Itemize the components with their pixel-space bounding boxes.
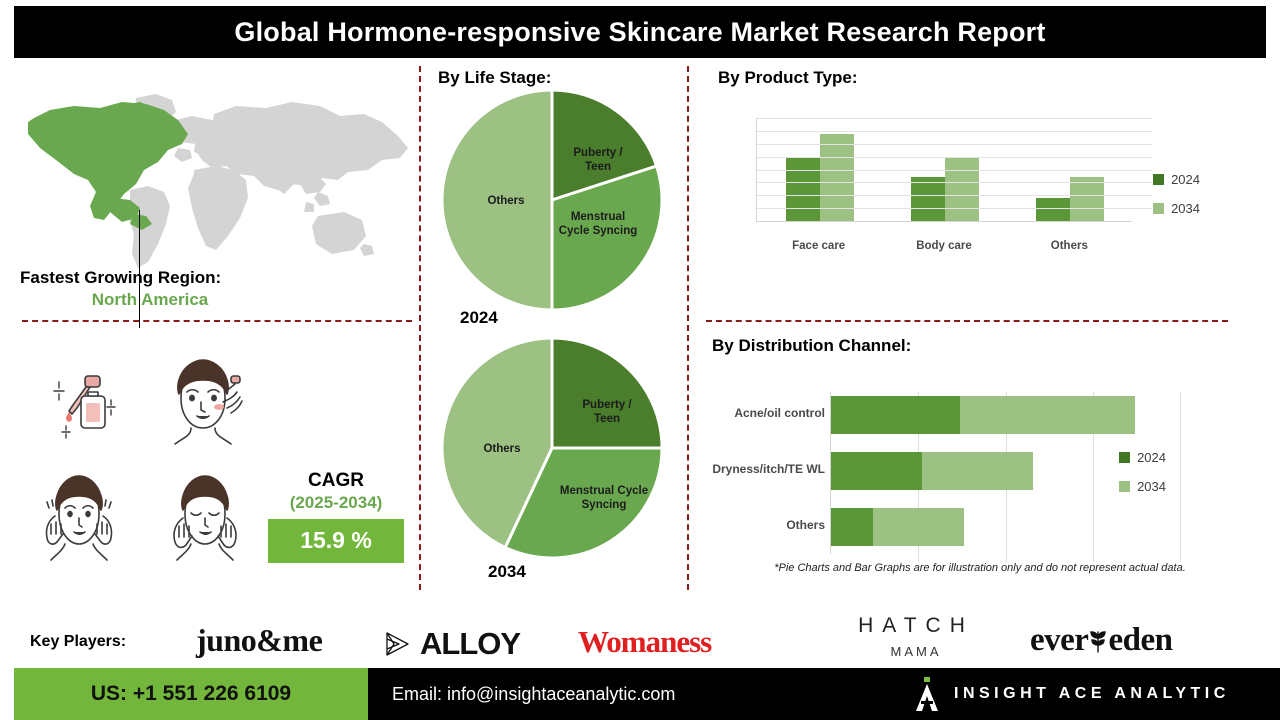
vertical-divider-right [687, 66, 689, 590]
life-stage-panel: By Life Stage: Puberty / Teen Menstrual … [422, 62, 684, 597]
mama-logo-text: MAMA [836, 644, 996, 659]
category-label: Dryness/itch/TE WL [701, 462, 825, 478]
pie-chart-2034: Puberty / Teen Menstrual Cycle Syncing O… [440, 336, 664, 565]
alloy-logo: ALLOY [382, 626, 520, 662]
product-type-legend: 2024 2034 [1153, 172, 1200, 216]
chart-disclaimer: *Pie Charts and Bar Graphs are for illus… [720, 562, 1240, 574]
bar-segment-2034 [873, 508, 964, 546]
legend-item-2034: 2034 [1153, 201, 1200, 216]
product-type-bar-chart: Face careBody careOthers 2024 2034 [748, 110, 1208, 260]
evereden-logo-text-left: ever [1030, 622, 1088, 659]
leaf-icon [1088, 626, 1108, 656]
face-applying-serum-icon [142, 344, 268, 460]
gridline [757, 208, 1152, 209]
legend-label-2024: 2024 [1171, 172, 1200, 187]
legend-label-2024: 2024 [1137, 450, 1166, 465]
bar-2034 [945, 157, 979, 221]
bar-2024 [1036, 198, 1070, 221]
juno-and-me-logo: juno&me [196, 622, 322, 659]
stacked-bar-row [831, 396, 1180, 434]
evereden-logo: ever eden [1030, 622, 1172, 659]
gridline [757, 118, 1152, 119]
fastest-growing-region-label: Fastest Growing Region: [20, 268, 280, 288]
bar-segment-2024 [831, 452, 922, 490]
pie-2024-year: 2024 [460, 308, 498, 328]
face-cleansing-icon [142, 460, 268, 576]
legend-label-2034: 2034 [1171, 201, 1200, 216]
gridline [757, 182, 1152, 183]
skincare-icons-grid [16, 344, 268, 576]
cagr-value: 15.9 % [268, 519, 404, 563]
product-type-plot-area [756, 118, 1132, 222]
vertical-divider-left [419, 66, 421, 590]
category-label: Others [701, 518, 825, 534]
serum-dropper-bottle-icon [16, 344, 142, 460]
legend-swatch-2024 [1119, 452, 1130, 463]
category-label: Body care [881, 240, 1006, 252]
category-label: Face care [756, 240, 881, 252]
key-players-label: Key Players: [30, 633, 126, 651]
right-panel: By Product Type: Face careBody careOther… [690, 62, 1280, 597]
left-panel: Fastest Growing Region: North America [0, 62, 418, 597]
insight-ace-analytic-brand: INSIGHT ACE ANALYTIC [914, 677, 1230, 711]
bar-2024 [786, 157, 820, 221]
distribution-legend: 2024 2034 [1119, 450, 1166, 494]
footer-phone-bar: US: +1 551 226 6109 [14, 668, 368, 720]
pie-chart-2024: Puberty / Teen Menstrual Cycle Syncing O… [440, 88, 664, 317]
page-title: Global Hormone-responsive Skincare Marke… [234, 17, 1045, 48]
cagr-block: CAGR (2025-2034) 15.9 % [268, 470, 404, 563]
header-bar: Global Hormone-responsive Skincare Marke… [14, 6, 1266, 58]
hatch-mama-logo: HATCH MAMA [836, 614, 996, 659]
bar-segment-2034 [922, 452, 1034, 490]
alloy-mark-icon [382, 629, 412, 659]
hatch-logo-text: HATCH [836, 614, 996, 638]
face-massage-icon [16, 460, 142, 576]
distribution-bar-chart: Acne/oil controlDryness/itch/TE WLOthers… [700, 382, 1180, 572]
insight-ace-logo-icon [914, 677, 940, 711]
gridline [757, 131, 1152, 132]
legend-item-2024: 2024 [1119, 450, 1166, 465]
gridline [757, 157, 1152, 158]
legend-swatch-2034 [1153, 203, 1164, 214]
category-label: Acne/oil control [701, 406, 825, 422]
bar-segment-2024 [831, 396, 960, 434]
pie-slice [552, 338, 662, 448]
legend-swatch-2034 [1119, 481, 1130, 492]
footer-email: Email: info@insightaceanalytic.com [392, 684, 675, 705]
stacked-bar-row [831, 508, 1180, 546]
cagr-title: CAGR [268, 470, 404, 492]
footer-contact-bar: Email: info@insightaceanalytic.com INSIG… [368, 668, 1280, 720]
category-label: Others [1007, 240, 1132, 252]
evereden-logo-text-right: eden [1108, 622, 1172, 659]
legend-item-2024: 2024 [1153, 172, 1200, 187]
bar-segment-2034 [960, 396, 1135, 434]
product-type-title: By Product Type: [718, 68, 857, 88]
gridline [757, 170, 1152, 171]
gridline [757, 195, 1152, 196]
cagr-period: (2025-2034) [268, 493, 404, 513]
pie-2034-year: 2034 [488, 562, 526, 582]
bar-segment-2024 [831, 508, 873, 546]
life-stage-title: By Life Stage: [438, 68, 551, 88]
gridline [1180, 392, 1181, 562]
gridline [757, 144, 1152, 145]
key-players-strip: Key Players: juno&me ALLOY Womaness HATC… [0, 600, 1280, 668]
brand-name: INSIGHT ACE ANALYTIC [954, 685, 1230, 703]
fastest-growing-region-value: North America [20, 290, 280, 310]
legend-item-2034: 2034 [1119, 479, 1166, 494]
pie-slice [442, 90, 552, 310]
world-map-icon [18, 78, 408, 278]
distribution-channel-title: By Distribution Channel: [712, 336, 911, 356]
legend-swatch-2024 [1153, 174, 1164, 185]
footer-phone: US: +1 551 226 6109 [91, 682, 291, 706]
womaness-logo: Womaness [578, 624, 711, 660]
legend-label-2034: 2034 [1137, 479, 1166, 494]
alloy-logo-text: ALLOY [420, 626, 520, 662]
